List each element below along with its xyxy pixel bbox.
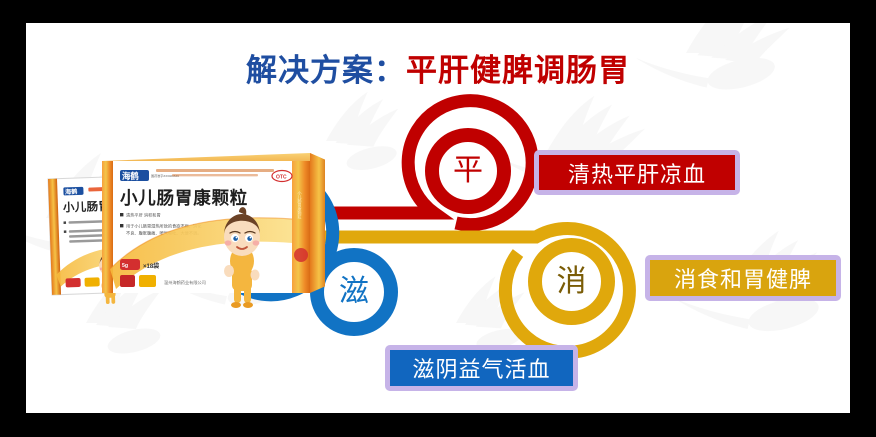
slide-canvas: 解决方案：平肝健脾调肠胃 平 滋 消 清热平肝凉血 消食和胃健脾 滋阴益气活血 xyxy=(26,23,850,413)
node-label-ping[interactable]: 清热平肝凉血 xyxy=(534,150,740,195)
front-box-bullet-1: 清热平肝 消积和胃 xyxy=(126,212,161,219)
front-box-brand: 海鹤 xyxy=(122,171,139,181)
node-label-zi[interactable]: 滋阴益气活血 xyxy=(385,345,578,391)
front-box-otc-badge: OTC xyxy=(276,174,287,180)
svg-text:5g: 5g xyxy=(122,263,128,269)
node-circle-ping[interactable]: 平 xyxy=(425,128,511,214)
back-box-brand: 海鹤 xyxy=(65,188,78,196)
node-circle-xiao[interactable]: 消 xyxy=(528,238,615,325)
slide-frame: 解决方案：平肝健脾调肠胃 平 滋 消 清热平肝凉血 消食和胃健脾 滋阴益气活血 xyxy=(0,0,876,437)
node-circle-zi-label: 滋 xyxy=(339,277,369,307)
front-box-spec: ×18袋 xyxy=(143,262,160,270)
front-box-maker: 温州海鹤药业有限公司 xyxy=(164,279,206,286)
node-circle-xiao-label: 消 xyxy=(557,267,587,297)
svg-text:小儿肠胃康颗粒: 小儿肠胃康颗粒 xyxy=(298,190,303,220)
front-box-name: 小儿肠胃康颗粒 xyxy=(120,188,248,208)
product-boxes[interactable]: 海鹤 小儿肠胃康颗粒 xyxy=(40,133,325,323)
node-label-xiao[interactable]: 消食和胃健脾 xyxy=(645,255,841,301)
node-circle-ping-label: 平 xyxy=(453,156,483,186)
product-box-front[interactable]: 海鹤 国药准字Z33020546 OTC 小儿肠胃康颗粒 清热平肝 消积和胃 用… xyxy=(102,153,325,308)
